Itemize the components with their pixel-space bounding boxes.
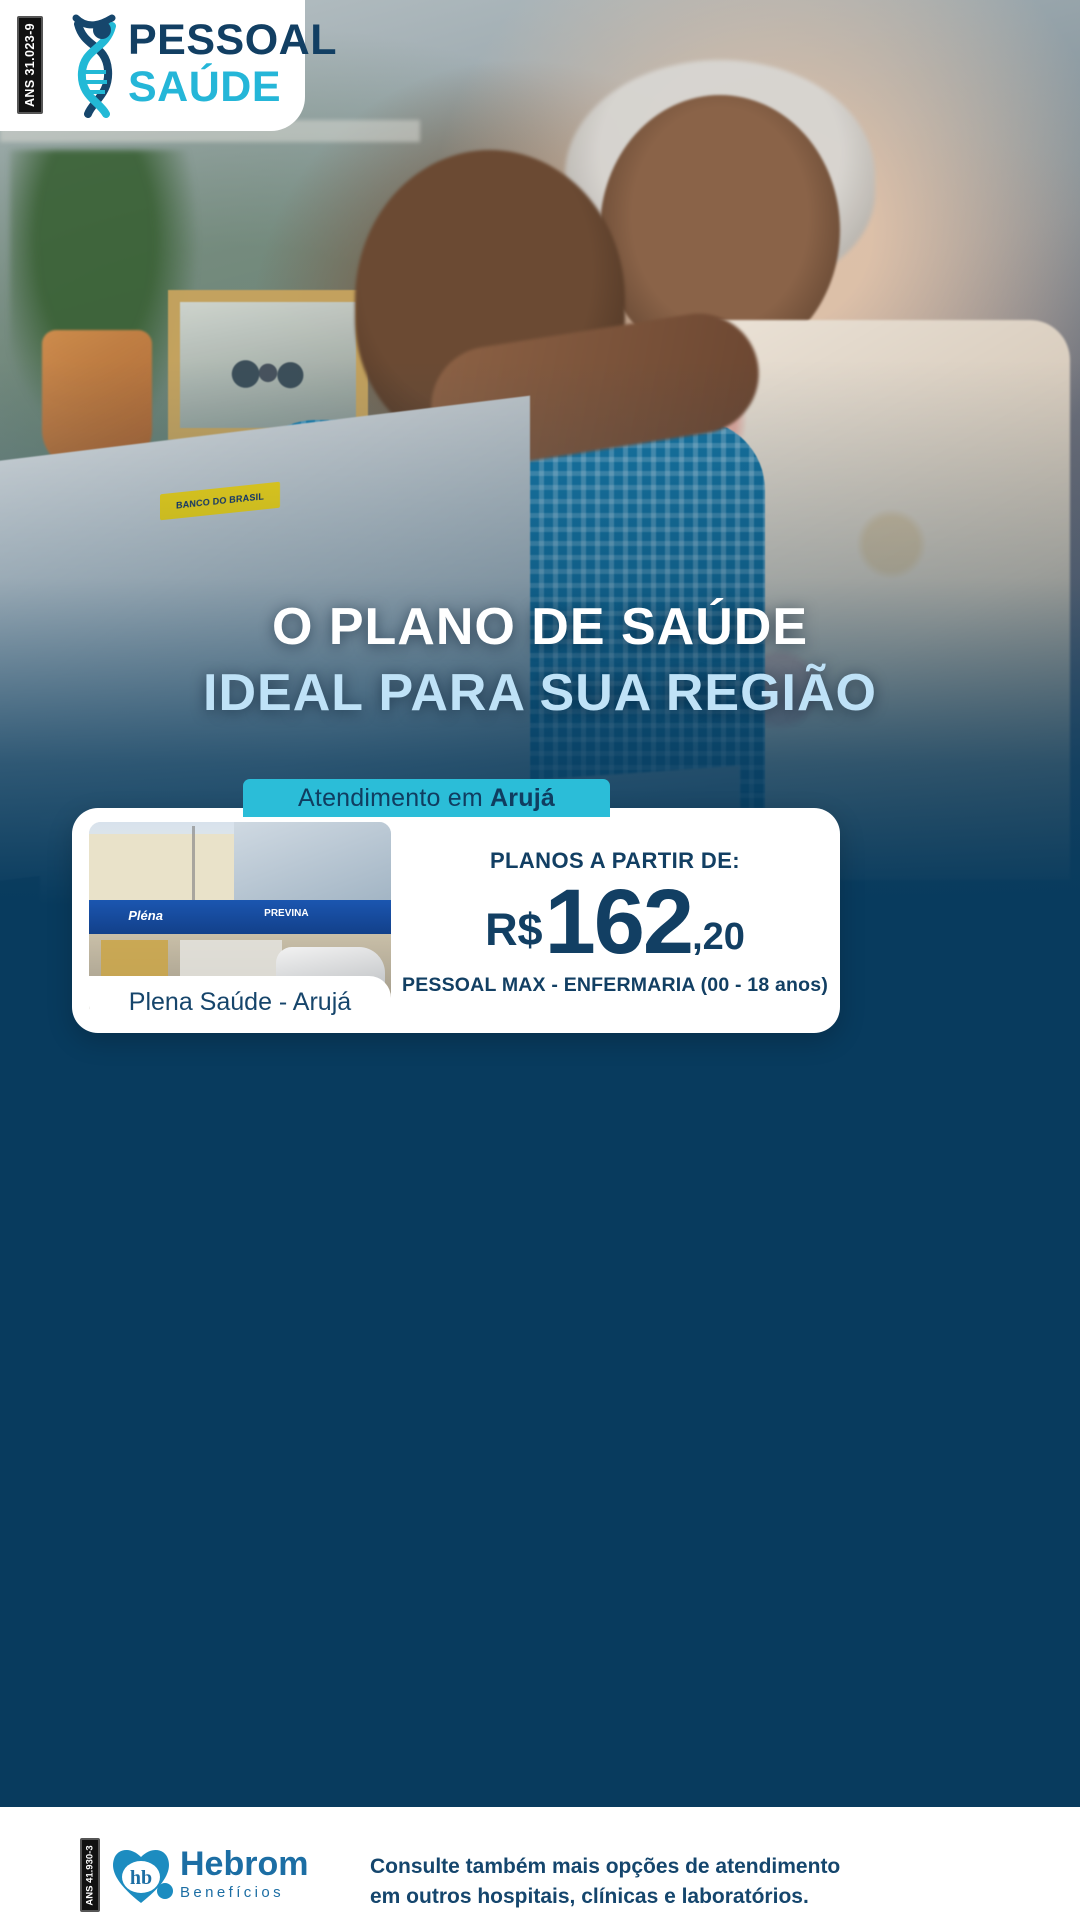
price-integer: 162 (545, 876, 693, 968)
brand-wordmark: PESSOAL SAÚDE (128, 16, 337, 110)
location-banner-prefix: Atendimento em (298, 784, 490, 812)
footer-brand-tagline: Benefícios (180, 1883, 308, 1903)
hebrom-heart-icon: hb (108, 1841, 174, 1907)
clinic-sign-primary: Pléna (128, 908, 163, 923)
ans-registration-code: ANS 31.023-9 (23, 23, 37, 107)
advertisement-page: BANCO DO BRASIL ANS 31.023-9 PESSOAL SAÚ… (0, 0, 1080, 1920)
ans-registration-badge: ANS 31.023-9 (17, 16, 43, 114)
plan-description: PESSOAL MAX - ENFERMARIA (00 - 18 anos) (402, 974, 828, 997)
clinic-caption-label: Plena Saúde - Arujá (129, 988, 351, 1017)
footer-brand-name: Hebrom (180, 1845, 308, 1883)
footer-note-line-2: em outros hospitais, clínicas e laborató… (370, 1882, 1030, 1912)
price-block: PLANOS A PARTIR DE: R$ 162 ,20 PESSOAL M… (400, 820, 830, 1025)
clinic-pole (192, 826, 195, 904)
location-banner-city: Arujá (490, 784, 555, 812)
brand-logo-panel: ANS 31.023-9 PESSOAL SAÚDE (0, 0, 305, 131)
footer-ans-badge: ANS 41.930-3 (80, 1838, 100, 1912)
price-value: R$ 162 ,20 (485, 876, 745, 968)
clinic-caption: Plena Saúde - Arujá (89, 976, 391, 1028)
price-decimal: ,20 (692, 906, 745, 968)
dna-person-icon (62, 14, 128, 118)
hero-headline: O PLANO DE SAÚDE IDEAL PARA SUA REGIÃO (0, 594, 1080, 726)
brand-name-line1: PESSOAL (128, 16, 337, 64)
footer-note: Consulte também mais opções de atendimen… (370, 1852, 1030, 1912)
footer-brand: Hebrom Benefícios (180, 1845, 308, 1903)
location-banner: Atendimento em Arujá (243, 779, 610, 817)
clinic-building-right (234, 822, 391, 912)
brand-name-line2: SAÚDE (128, 64, 337, 110)
headline-line-2: IDEAL PARA SUA REGIÃO (0, 660, 1080, 726)
price-currency: R$ (485, 892, 543, 968)
hero-photo-area: BANCO DO BRASIL (0, 0, 1080, 905)
dental-section: Plano Odontológico DENTALPLUS Opcional p… (0, 1140, 1080, 1620)
svg-text:hb: hb (130, 1867, 152, 1889)
clinic-signboard: Pléna PREVINA (89, 900, 391, 933)
clinic-sign-secondary: PREVINA (264, 908, 308, 919)
headline-line-1: O PLANO DE SAÚDE (0, 594, 1080, 660)
location-banner-text: Atendimento em Arujá (298, 784, 555, 813)
footer-note-line-1: Consulte também mais opções de atendimen… (370, 1852, 1030, 1882)
footer-ans-code: ANS 41.930-3 (85, 1845, 96, 1905)
